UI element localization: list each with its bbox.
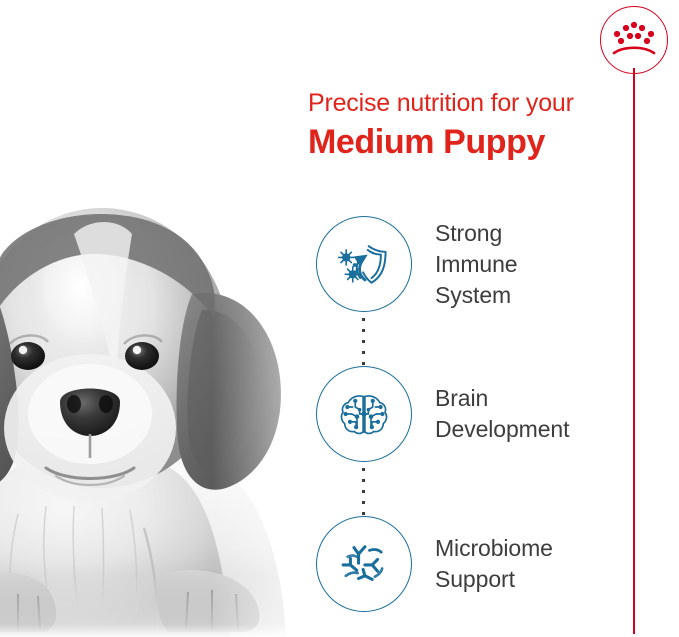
connector-dot <box>362 340 365 343</box>
benefit-label-line: Strong <box>435 218 517 249</box>
benefit-list: Strong Immune System <box>316 216 636 612</box>
connector-dot <box>362 329 365 332</box>
product-benefit-panel: Precise nutrition for your Medium Puppy <box>0 0 679 637</box>
benefit-label-brain: Brain Development <box>435 383 569 445</box>
headline-line-2: Medium Puppy <box>308 120 638 164</box>
benefit-item-immune: Strong Immune System <box>316 216 636 312</box>
puppy-photo <box>0 176 316 637</box>
connector-dot <box>362 490 365 493</box>
benefit-label-line: Microbiome <box>435 533 553 564</box>
connector-dots <box>316 312 412 366</box>
connector-dot <box>362 318 365 321</box>
benefit-label-line: System <box>435 280 517 311</box>
connector-dot <box>362 362 365 365</box>
benefit-label-line: Support <box>435 564 553 595</box>
connector-dot <box>362 512 365 515</box>
royal-canin-logo <box>600 6 672 78</box>
brain-circuit-icon <box>316 366 412 462</box>
headline-line-1: Precise nutrition for your <box>308 88 638 118</box>
benefit-label-microbiome: Microbiome Support <box>435 533 553 595</box>
benefit-label-line: Development <box>435 414 569 445</box>
crown-icon <box>611 20 657 60</box>
connector-dot <box>362 501 365 504</box>
benefit-label-immune: Strong Immune System <box>435 218 517 311</box>
connector-dot <box>362 351 365 354</box>
connector-dot <box>362 479 365 482</box>
headline: Precise nutrition for your Medium Puppy <box>308 88 638 164</box>
benefit-label-line: Immune <box>435 249 517 280</box>
connector-dot <box>362 468 365 471</box>
connector-dots <box>316 462 412 516</box>
benefit-label-line: Brain <box>435 383 569 414</box>
benefit-item-microbiome: Microbiome Support <box>316 516 636 612</box>
shield-immune-icon <box>316 216 412 312</box>
benefit-item-brain: Brain Development <box>316 366 636 462</box>
microbiome-bacteria-icon <box>316 516 412 612</box>
